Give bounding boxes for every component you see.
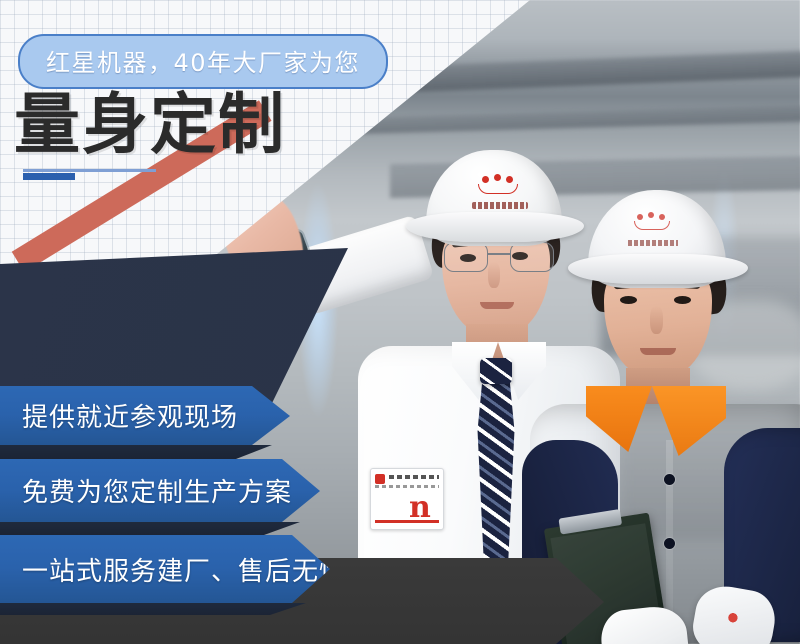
jacket-button bbox=[664, 474, 675, 485]
engineer-right bbox=[548, 190, 800, 644]
mouth bbox=[640, 348, 676, 355]
feature-banner-1-label: 提供就近参观现场 bbox=[0, 397, 238, 434]
title-underline-thick bbox=[23, 173, 75, 180]
page-title: 量身定制 bbox=[14, 92, 286, 158]
helmet-logo-text bbox=[628, 240, 678, 246]
eye bbox=[620, 296, 637, 304]
nose bbox=[650, 306, 663, 334]
banner-shadow-wedge bbox=[0, 445, 272, 459]
jacket-button bbox=[664, 538, 675, 549]
feature-banner-2-label: 免费为您定制生产方案 bbox=[0, 472, 292, 509]
helmet-logo-icon bbox=[476, 174, 520, 200]
necktie-knot bbox=[480, 358, 512, 384]
helmet-brim bbox=[568, 254, 748, 284]
title-underline-thin bbox=[23, 169, 156, 172]
feature-banner-1: 提供就近参观现场 bbox=[0, 386, 290, 445]
nose bbox=[488, 262, 500, 288]
feature-banner-2: 免费为您定制生产方案 bbox=[0, 459, 320, 522]
tagline-badge: 红星机器，40年大厂家为您 bbox=[18, 34, 388, 89]
eye bbox=[674, 296, 691, 304]
helmet-logo-text bbox=[472, 202, 528, 209]
feature-banner-3-label: 一站式服务建厂、售后无忧 bbox=[0, 551, 346, 588]
promo-banner: n bbox=[0, 0, 800, 644]
helmet-logo-icon bbox=[632, 212, 672, 236]
banner-shadow-wedge bbox=[0, 522, 300, 535]
mouth bbox=[480, 302, 514, 309]
banner-shadow-wedge bbox=[0, 603, 306, 615]
feature-banner-3: 一站式服务建厂、售后无忧 bbox=[0, 535, 330, 603]
id-badge: n bbox=[370, 468, 444, 530]
